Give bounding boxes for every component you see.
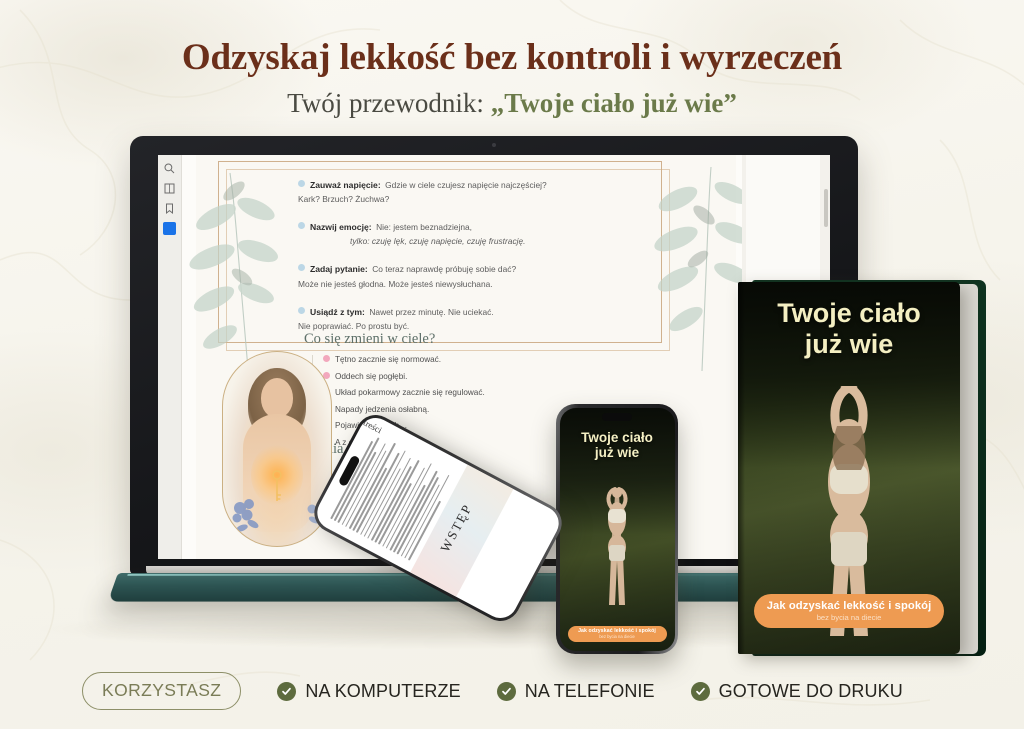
phone-notch xyxy=(602,413,632,421)
phone-cover-title-line2: już wie xyxy=(560,445,675,461)
check-circle-icon xyxy=(691,682,710,701)
book-title: Twoje ciało już wie xyxy=(738,298,960,360)
highlight-icon[interactable] xyxy=(163,222,176,235)
korzystasz-pill: KORZYSTASZ xyxy=(82,672,241,710)
list-item-title: Zauważ napięcie: xyxy=(310,180,381,190)
phone-upright-body: Twoje ciało już wie xyxy=(556,404,678,654)
list-item: Układ pokarmowy zacznie się regulować. xyxy=(323,388,562,397)
book-band-main: Jak odzyskać lekkość i spokój xyxy=(767,600,932,612)
figure-face xyxy=(261,378,293,418)
webcam-icon xyxy=(492,143,496,147)
feature-label: GOTOWE DO DRUKU xyxy=(719,681,903,702)
list-item-text: Nie: jestem beznadziejna, xyxy=(376,222,472,232)
feature-bar: KORZYSTASZ NA KOMPUTERZE NA TELEFONIE GO… xyxy=(0,671,1024,711)
list-item-text: Co teraz naprawdę próbuję sobie dać? xyxy=(372,264,516,274)
list-item-sub: Kark? Brzuch? Żuchwa? xyxy=(298,194,638,205)
check-circle-icon xyxy=(277,682,296,701)
list-item-title: Usiądź z tym: xyxy=(310,307,365,317)
book-band-sub: bez bycia na diecie xyxy=(817,613,882,622)
search-icon[interactable] xyxy=(163,162,176,175)
book-title-line1: Twoje ciało xyxy=(738,298,960,329)
phone-upright-screen: Twoje ciało już wie xyxy=(560,408,675,651)
list-item-label: Układ pokarmowy zacznie się regulować. xyxy=(335,388,485,397)
feature-item-computer: NA KOMPUTERZE xyxy=(277,681,460,702)
list-item-title: Nazwij emocję: xyxy=(310,222,372,232)
phone-cover-band: Jak odzyskać lekkość i spokój bez bycia … xyxy=(568,626,667,642)
bullet-icon xyxy=(298,222,305,229)
phone-upright-mockup: Twoje ciało już wie xyxy=(556,404,678,654)
list-item-text: Gdzie w ciele czujesz napięcie najczęści… xyxy=(385,180,547,190)
phone-cover-title-line1: Twoje ciało xyxy=(560,430,675,446)
list-item-sub-italic: tylko: czuję lęk, czuję napięcie, czuję … xyxy=(350,236,638,247)
book-cover-band: Jak odzyskać lekkość i spokój bez bycia … xyxy=(754,594,944,628)
document-checklist: Zauważ napięcie: Gdzie w ciele czujesz n… xyxy=(298,173,638,342)
bullet-icon xyxy=(298,180,305,187)
list-item-text: Nawet przez minutę. Nie uciekać. xyxy=(369,307,493,317)
promo-banner: Odzyskaj lekkość bez kontroli i wyrzecze… xyxy=(0,0,1024,729)
list-item-label: Tętno zacznie się normować. xyxy=(335,355,441,364)
list-item: Usiądź z tym: Nawet przez minutę. Nie uc… xyxy=(298,300,638,332)
book-title-line2: już wie xyxy=(738,329,960,360)
list-item: Tętno zacznie się normować. xyxy=(323,355,562,364)
bullet-icon xyxy=(298,307,305,314)
list-item-sub: Może nie jesteś głodna. Może jesteś niew… xyxy=(298,279,638,290)
feature-label: NA KOMPUTERZE xyxy=(305,681,460,702)
subtitle-quoted-title: „Twoje ciało już wie” xyxy=(491,88,737,118)
bookmark-icon[interactable] xyxy=(163,202,176,215)
list-item: Napady jedzenia osłabną. xyxy=(323,405,562,414)
pdf-reader-sidebar[interactable] xyxy=(158,155,182,559)
page-subtitle: Twój przewodnik: „Twoje ciało już wie” xyxy=(0,88,1024,119)
feature-label: NA TELEFONIE xyxy=(525,681,655,702)
page-title: Odzyskaj lekkość bez kontroli i wyrzecze… xyxy=(0,36,1024,79)
list-item: Nazwij emocję: Nie: jestem beznadziejna,… xyxy=(298,215,638,247)
pages-icon[interactable] xyxy=(163,182,176,195)
bullet-icon xyxy=(298,264,305,271)
woman-stretching-photo xyxy=(591,485,643,635)
feature-item-print: GOTOWE DO DRUKU xyxy=(691,681,903,702)
list-item-title: Zadaj pytanie: xyxy=(310,264,368,274)
pdf-scrollbar[interactable] xyxy=(824,189,828,227)
subtitle-prefix: Twój przewodnik: xyxy=(287,88,491,118)
feature-item-phone: NA TELEFONIE xyxy=(497,681,655,702)
list-item: Oddech się pogłębi. xyxy=(323,372,562,381)
list-item: Zauważ napięcie: Gdzie w ciele czujesz n… xyxy=(298,173,638,205)
phone-band-sub: bez bycia na diecie xyxy=(599,634,635,639)
list-item-label: Napady jedzenia osłabną. xyxy=(335,405,429,414)
book-mockup: Twoje ciało już wie xyxy=(738,282,986,656)
botanical-leaf-left-icon xyxy=(186,165,296,375)
blue-flower-icon xyxy=(229,494,265,536)
list-item: Zadaj pytanie: Co teraz naprawdę próbuję… xyxy=(298,257,638,289)
key-icon xyxy=(272,470,282,504)
phone-cover-title: Twoje ciało już wie xyxy=(560,430,675,462)
check-circle-icon xyxy=(497,682,516,701)
book-front-cover: Twoje ciało już wie xyxy=(738,282,960,654)
